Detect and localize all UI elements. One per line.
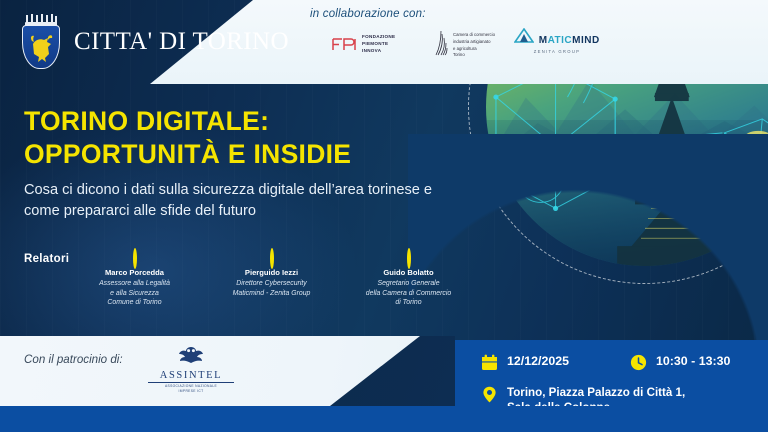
map-pin-icon bbox=[481, 386, 498, 403]
speaker-name: Marco Porcedda bbox=[72, 268, 197, 278]
event-date-text: 12/12/2025 bbox=[507, 354, 569, 370]
bottom-bar-right bbox=[455, 406, 768, 432]
camera-commercio-name: Camera di commercio industria artigianat… bbox=[453, 32, 495, 59]
maticmind-triangle-icon bbox=[514, 30, 538, 47]
headline-line-2: OPPORTUNITÀ E INSIDIE bbox=[24, 138, 444, 171]
headline-line-1: TORINO DIGITALE: bbox=[24, 105, 444, 138]
collaboration-label: in collaborazione con: bbox=[310, 8, 426, 20]
clock-icon bbox=[630, 354, 647, 371]
speaker-item: Guido Bolatto Segretario Generale della … bbox=[346, 250, 471, 308]
assintel-subtitle: ASSOCIAZIONE NAZIONALE IMPRESE ICT bbox=[148, 384, 234, 394]
event-time-text: 10:30 - 13:30 bbox=[656, 354, 730, 370]
partner-logo-maticmind: MATICMIND ZENITA GROUP bbox=[514, 28, 600, 54]
partner-logos: FONDAZIONE PIEMONTE INNOVA bbox=[322, 26, 622, 72]
speaker-name: Pierguido Iezzi bbox=[209, 268, 334, 278]
event-date: 12/12/2025 bbox=[481, 354, 569, 371]
event-time: 10:30 - 13:30 bbox=[630, 354, 730, 371]
speaker-name: Guido Bolatto bbox=[346, 268, 471, 278]
speaker-item: Marco Porcedda Assessore alla Legalità e… bbox=[72, 250, 197, 308]
page-title: TORINO DIGITALE: OPPORTUNITÀ E INSIDIE bbox=[24, 105, 444, 171]
speaker-role: Assessore alla Legalità e alla Sicurezza… bbox=[72, 279, 197, 308]
assintel-eagle-icon bbox=[178, 352, 204, 369]
fpi-monogram-icon bbox=[332, 37, 358, 52]
partner-logo-fpi: FONDAZIONE PIEMONTE INNOVA bbox=[332, 34, 395, 55]
avatar bbox=[133, 248, 137, 269]
speaker-item: Pierguido Iezzi Direttore Cybersecurity … bbox=[209, 250, 334, 308]
partner-logo-camera-commercio: Camera di commercio industria artigianat… bbox=[434, 30, 495, 61]
city-name: CITTA' DI TORINO bbox=[74, 28, 289, 56]
speaker-role: Direttore Cybersecurity Maticmind - Zeni… bbox=[209, 279, 334, 299]
speakers-list: Marco Porcedda Assessore alla Legalità e… bbox=[72, 250, 472, 308]
camera-commercio-wheat-icon bbox=[434, 30, 449, 61]
calendar-icon bbox=[481, 354, 498, 371]
speakers-label: Relatori bbox=[24, 253, 69, 265]
city-logo: CITTA' DI TORINO bbox=[18, 14, 289, 70]
fpi-name: FONDAZIONE PIEMONTE INNOVA bbox=[362, 34, 395, 55]
page-subtitle: Cosa ci dicono i dati sulla sicurezza di… bbox=[24, 180, 434, 221]
assintel-name: ASSINTEL bbox=[148, 370, 234, 381]
turin-coat-of-arms-shield-icon bbox=[18, 14, 64, 70]
assintel-logo: ASSINTEL ASSOCIAZIONE NAZIONALE IMPRESE … bbox=[148, 345, 234, 394]
avatar bbox=[270, 248, 274, 269]
bottom-bar-left bbox=[0, 406, 455, 432]
assintel-divider bbox=[148, 382, 234, 383]
speaker-role: Segretario Generale della Camera di Comm… bbox=[346, 279, 471, 308]
event-poster: in collaborazione con: FONDAZIONE PIEMON… bbox=[0, 0, 768, 432]
avatar bbox=[407, 248, 411, 269]
maticmind-subtitle: ZENITA GROUP bbox=[514, 49, 600, 54]
patronage-label: Con il patrocinio di: bbox=[24, 353, 123, 366]
maticmind-name: MATICMIND bbox=[539, 35, 600, 46]
